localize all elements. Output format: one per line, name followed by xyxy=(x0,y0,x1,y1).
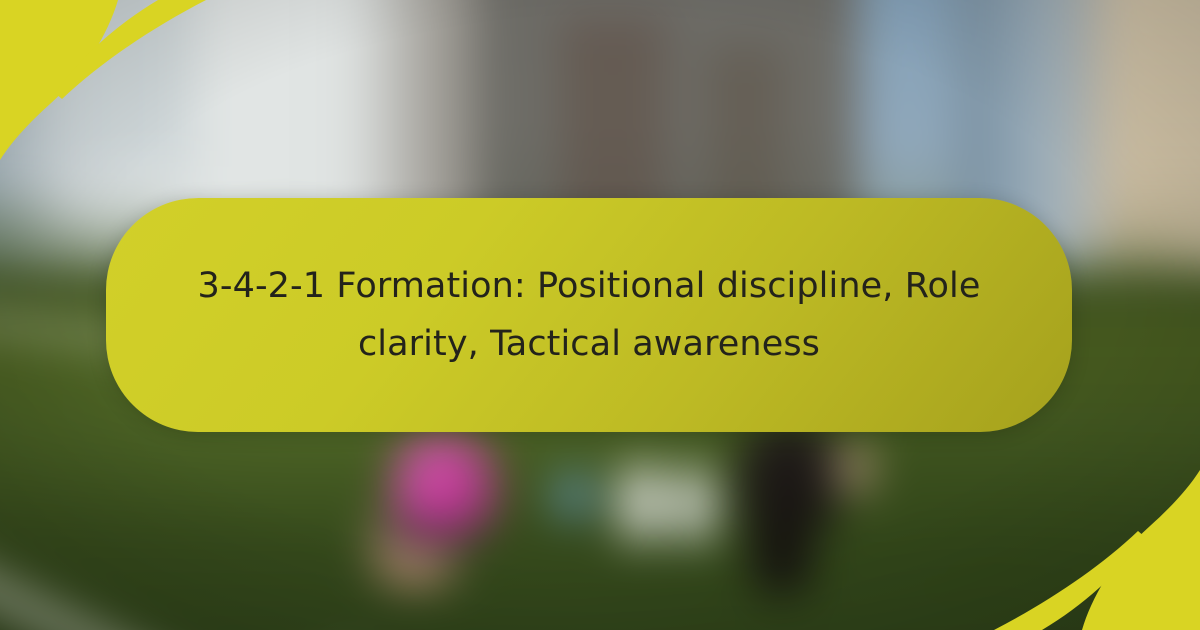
card-title: 3-4-2-1 Formation: Positional discipline… xyxy=(194,257,984,373)
player-pink-shirt xyxy=(395,435,494,533)
player-white-a xyxy=(620,465,662,540)
title-card: 3-4-2-1 Formation: Positional discipline… xyxy=(106,198,1072,432)
player-teal-accent xyxy=(554,473,594,518)
social-card-canvas: 3-4-2-1 Formation: Positional discipline… xyxy=(0,0,1200,630)
player-white-b xyxy=(674,469,714,540)
building-left-gray xyxy=(59,0,191,165)
player-dark-kit xyxy=(739,420,838,533)
